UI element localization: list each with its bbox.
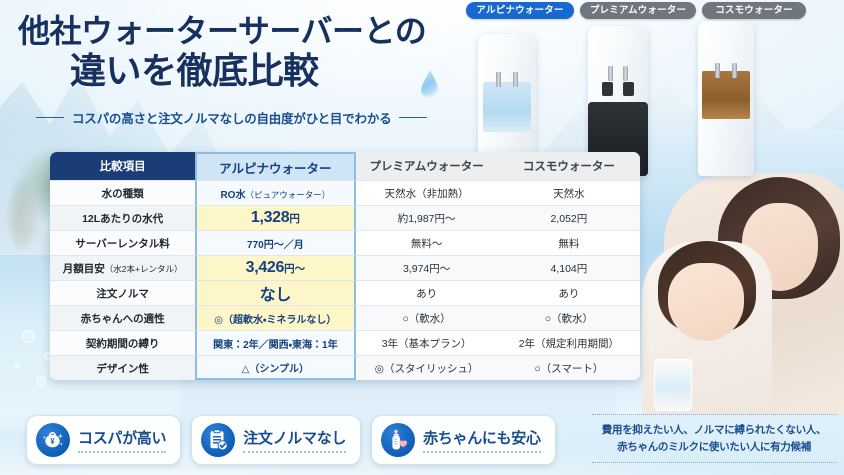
tap-icon bbox=[496, 72, 501, 87]
table-row: 契約期間の縛り関東：2年／関西・東海：1年3年（基本プラン）2年（規定利用期間） bbox=[50, 330, 640, 355]
comparison-table-wrapper: 比較項目 アルピナウォーター プレミアムウォーター コスモウォーター 水の種類R… bbox=[50, 152, 640, 380]
row-label: デザイン性 bbox=[50, 355, 195, 380]
server-panel-cosmo bbox=[702, 71, 749, 119]
button-icon bbox=[602, 82, 613, 96]
badge-underline bbox=[423, 451, 541, 453]
table-row: 水の種類RO水（ピュアウォーター）天然水（非加熱）天然水 bbox=[50, 180, 640, 205]
server-taps-cosmo bbox=[698, 63, 754, 78]
badge-label-cost: コスパが高い bbox=[78, 427, 166, 448]
cell-alpina: 関東：2年／関西・東海：1年 bbox=[195, 330, 355, 355]
row-label: 契約期間の縛り bbox=[50, 330, 195, 355]
cell-alpina: ◎（超軟水・ミネラルなし） bbox=[195, 305, 355, 330]
coin-purse-yen-icon: ¥ bbox=[36, 423, 70, 457]
footer-note: 費用を抑えたい人、ノルマに縛られたくない人、 赤ちゃんのミルクに使いたい人に有力… bbox=[592, 414, 836, 463]
row-label: 水の種類 bbox=[50, 180, 195, 205]
photo-child-face bbox=[668, 263, 744, 341]
cell-alpina: 3,426円〜 bbox=[195, 255, 355, 280]
subtitle-text: コスパの高さと注文ノルマなしの自由度がひと目でわかる bbox=[72, 108, 391, 127]
cell-cosmo: ○（軟水） bbox=[498, 305, 640, 330]
cell-premium: ◎（スタイリッシュ） bbox=[356, 355, 498, 380]
baby-bottle-heart-icon bbox=[381, 423, 415, 457]
badge-text-block: 注文ノルマなし bbox=[243, 427, 346, 453]
table-row: デザイン性△（シンプル）◎（スタイリッシュ）○（スマート） bbox=[50, 355, 640, 380]
svg-text:¥: ¥ bbox=[50, 437, 55, 446]
server-taps-alpina bbox=[478, 72, 536, 87]
feature-badges: ¥ コスパが高い bbox=[26, 415, 556, 465]
server-taps-premium bbox=[588, 66, 648, 81]
cell-alpina-note: 円 bbox=[289, 213, 300, 225]
pill-premium[interactable]: プレミアムウォーター bbox=[580, 2, 696, 19]
table-header-row: 比較項目 アルピナウォーター プレミアムウォーター コスモウォーター bbox=[50, 152, 640, 180]
bubble-decoration bbox=[22, 330, 35, 343]
bubble-decoration bbox=[14, 362, 20, 368]
pill-cosmo[interactable]: コスモウォーター bbox=[702, 2, 806, 19]
server-buttons-premium bbox=[588, 82, 648, 96]
cell-premium: 無料〜 bbox=[356, 230, 498, 255]
row-label: 月額目安（水2本+レンタル） bbox=[50, 255, 195, 280]
bubble-decoration bbox=[36, 376, 46, 386]
cell-alpina-value: 3,426 bbox=[246, 259, 285, 276]
badge-baby-safe[interactable]: 赤ちゃんにも安心 bbox=[371, 415, 556, 465]
headline-block: 他社ウォーターサーバーとの 違いを徹底比較 bbox=[18, 14, 468, 92]
tap-icon bbox=[608, 66, 613, 81]
cell-cosmo: 無料 bbox=[498, 230, 640, 255]
subtitle-rule-left bbox=[36, 117, 64, 118]
footer-line-1: 費用を抑えたい人、ノルマに縛られたくない人、 bbox=[596, 422, 832, 438]
table-row: サーバーレンタル料770円〜／月無料〜無料 bbox=[50, 230, 640, 255]
tap-icon bbox=[513, 72, 518, 87]
row-label: 注文ノルマ bbox=[50, 280, 195, 305]
badge-text-block: 赤ちゃんにも安心 bbox=[423, 427, 541, 453]
cell-alpina-value: 770円〜／月 bbox=[247, 240, 304, 251]
header-cosmo: コスモウォーター bbox=[498, 152, 640, 180]
cell-alpina-note: （ピュアウォーター） bbox=[245, 190, 330, 200]
cell-premium: ○（軟水） bbox=[356, 305, 498, 330]
table-body: 水の種類RO水（ピュアウォーター）天然水（非加熱）天然水12Lあたりの水代1,3… bbox=[50, 180, 640, 380]
cell-alpina-value: ◎（超軟水・ミネラルなし） bbox=[214, 315, 336, 326]
table-head: 比較項目 アルピナウォーター プレミアムウォーター コスモウォーター bbox=[50, 152, 640, 180]
headline-line-1: 他社ウォーターサーバーとの bbox=[18, 14, 468, 49]
badge-no-order-quota[interactable]: 注文ノルマなし bbox=[191, 415, 361, 465]
row-label: 赤ちゃんへの適性 bbox=[50, 305, 195, 330]
badge-underline bbox=[78, 451, 166, 453]
cell-alpina-value: 関東：2年／関西・東海：1年 bbox=[213, 340, 338, 351]
cell-cosmo: ○（スマート） bbox=[498, 355, 640, 380]
badge-underline bbox=[243, 451, 346, 453]
footer-line-2: 赤ちゃんのミルクに使いたい人に有力候補 bbox=[596, 439, 832, 455]
cell-cosmo: 2,052円 bbox=[498, 205, 640, 230]
tap-icon bbox=[715, 63, 720, 78]
headline-line-2: 違いを徹底比較 bbox=[18, 51, 468, 91]
cell-alpina-note: 円〜 bbox=[284, 263, 305, 275]
row-label-note: （水2本+レンタル） bbox=[105, 264, 183, 274]
photo-water-glass bbox=[654, 359, 692, 411]
header-alpina: アルピナウォーター bbox=[195, 152, 355, 180]
badge-cost-performance[interactable]: ¥ コスパが高い bbox=[26, 415, 181, 465]
badge-label-baby: 赤ちゃんにも安心 bbox=[423, 427, 541, 448]
pill-alpina[interactable]: アルピナウォーター bbox=[466, 2, 574, 19]
server-body-cosmo bbox=[698, 21, 754, 176]
header-compare-item: 比較項目 bbox=[50, 152, 195, 180]
cell-alpina: 1,328円 bbox=[195, 205, 355, 230]
table-row: 赤ちゃんへの適性◎（超軟水・ミネラルなし）○（軟水）○（軟水） bbox=[50, 305, 640, 330]
cell-alpina-value: △（シンプル） bbox=[242, 364, 309, 375]
row-label: サーバーレンタル料 bbox=[50, 230, 195, 255]
cell-cosmo: 天然水 bbox=[498, 180, 640, 205]
cell-alpina-value: なし bbox=[260, 287, 291, 304]
product-name-pills: アルピナウォーター プレミアムウォーター コスモウォーター bbox=[466, 2, 844, 22]
cell-alpina: △（シンプル） bbox=[195, 355, 355, 380]
tap-icon bbox=[732, 63, 737, 78]
badge-label-quota: 注文ノルマなし bbox=[243, 427, 346, 448]
badge-text-block: コスパが高い bbox=[78, 427, 166, 453]
table-row: 12Lあたりの水代1,328円約1,987円〜2,052円 bbox=[50, 205, 640, 230]
cell-premium: あり bbox=[356, 280, 498, 305]
infographic-root: アルピナウォーター プレミアムウォーター コスモウォーター 他社ウォーターサーバ… bbox=[0, 0, 844, 475]
server-tank-alpina bbox=[483, 82, 532, 132]
cell-alpina-value: RO水 bbox=[220, 190, 245, 201]
cell-alpina-value: 1,328 bbox=[251, 209, 290, 226]
subtitle-rule-right bbox=[399, 117, 427, 118]
cell-premium: 3,974円〜 bbox=[356, 255, 498, 280]
clipboard-check-icon bbox=[201, 423, 235, 457]
cell-premium: 約1,987円〜 bbox=[356, 205, 498, 230]
cell-cosmo: 2年（規定利用期間） bbox=[498, 330, 640, 355]
cell-alpina: なし bbox=[195, 280, 355, 305]
row-label: 12Lあたりの水代 bbox=[50, 205, 195, 230]
table-row: 注文ノルマなしありあり bbox=[50, 280, 640, 305]
header-premium: プレミアムウォーター bbox=[356, 152, 498, 180]
cell-premium: 3年（基本プラン） bbox=[356, 330, 498, 355]
cell-cosmo: あり bbox=[498, 280, 640, 305]
server-image-cosmo bbox=[698, 21, 754, 176]
cell-alpina: RO水（ピュアウォーター） bbox=[195, 180, 355, 205]
comparison-table: 比較項目 アルピナウォーター プレミアムウォーター コスモウォーター 水の種類R… bbox=[50, 152, 640, 380]
tap-icon bbox=[623, 66, 628, 81]
cell-cosmo: 4,104円 bbox=[498, 255, 640, 280]
table-row: 月額目安（水2本+レンタル）3,426円〜3,974円〜4,104円 bbox=[50, 255, 640, 280]
cell-premium: 天然水（非加熱） bbox=[356, 180, 498, 205]
subtitle-block: コスパの高さと注文ノルマなしの自由度がひと目でわかる bbox=[36, 108, 456, 127]
button-icon bbox=[623, 82, 634, 96]
cell-alpina: 770円〜／月 bbox=[195, 230, 355, 255]
